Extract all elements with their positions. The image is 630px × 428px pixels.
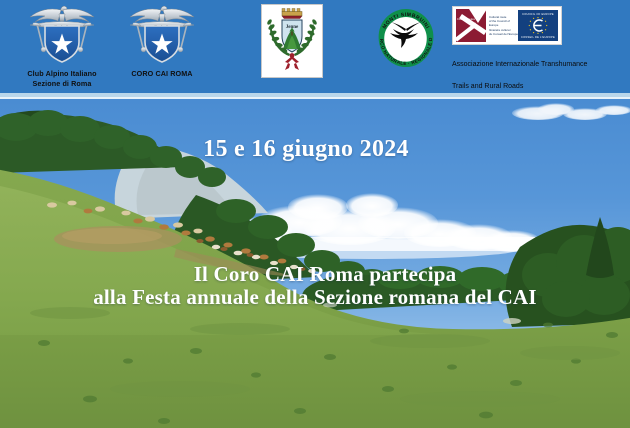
headline-line-2: alla Festa annuale della Sezione romana …: [0, 285, 630, 310]
coe-e-logo-icon: [534, 20, 543, 31]
park-roundel-icon: MONTI SIMBRUINI PARCO NATURALE · REGIONA…: [373, 6, 439, 72]
transhumance-caption-line2: Trails and Rural Roads: [452, 83, 523, 90]
headline-line-1-text: Il Coro CAI Roma partecipa: [194, 262, 457, 287]
mural-crown-icon: [282, 9, 302, 19]
council-of-europe-certified-route-mark: Cultural Routes Cultural route of the Co…: [452, 6, 562, 45]
logo-coro-cai-roma: C.A.I. CORO CAI ROMA: [102, 4, 222, 79]
coe-route-text: Cultural route of the Council of Europe …: [486, 15, 518, 36]
cultural-routes-mark-icon: Cultural Routes: [456, 9, 486, 42]
logo-parco-monti-simbruini: MONTI SIMBRUINI PARCO NATURALE · REGIONA…: [358, 6, 454, 72]
transhumance-caption-line1: Associazione Internazionale Transhumance: [452, 61, 587, 68]
event-poster: C.A.I. Club Alpino Italiano Sez: [0, 0, 630, 428]
logo-header-band: C.A.I. Club Alpino Italiano Sez: [0, 0, 630, 93]
jenne-coat-of-arms-icon: Jenne: [261, 4, 323, 78]
transhumance-caption: Associazione Internazionale Transhumance…: [452, 49, 628, 93]
ribbon: [285, 53, 299, 70]
rock: [503, 318, 521, 324]
logo-transhumance-cultural-route: Cultural Routes Cultural route of the Co…: [452, 6, 628, 93]
event-date-text: 15 e 16 giugno 2024: [203, 136, 409, 163]
cai-eagle-shield-icon: C.A.I.: [120, 4, 204, 64]
council-of-europe-flag-icon: COUNCIL OF EUROPE: [518, 10, 558, 41]
event-date: 15 e 16 giugno 2024: [0, 136, 630, 163]
logo-caption-coro-cai-roma: CORO CAI ROMA: [102, 69, 222, 79]
coe-mark-label: Cultural Routes: [457, 18, 475, 21]
cai-eagle-shield-icon: C.A.I.: [20, 4, 104, 64]
logo-comune-di-jenne: Jenne: [222, 4, 362, 78]
headline-line-1: Il Coro CAI Roma partecipa: [0, 262, 630, 287]
coe-flag-bottom-label: CONSEIL DE L'EUROPE: [518, 36, 558, 39]
